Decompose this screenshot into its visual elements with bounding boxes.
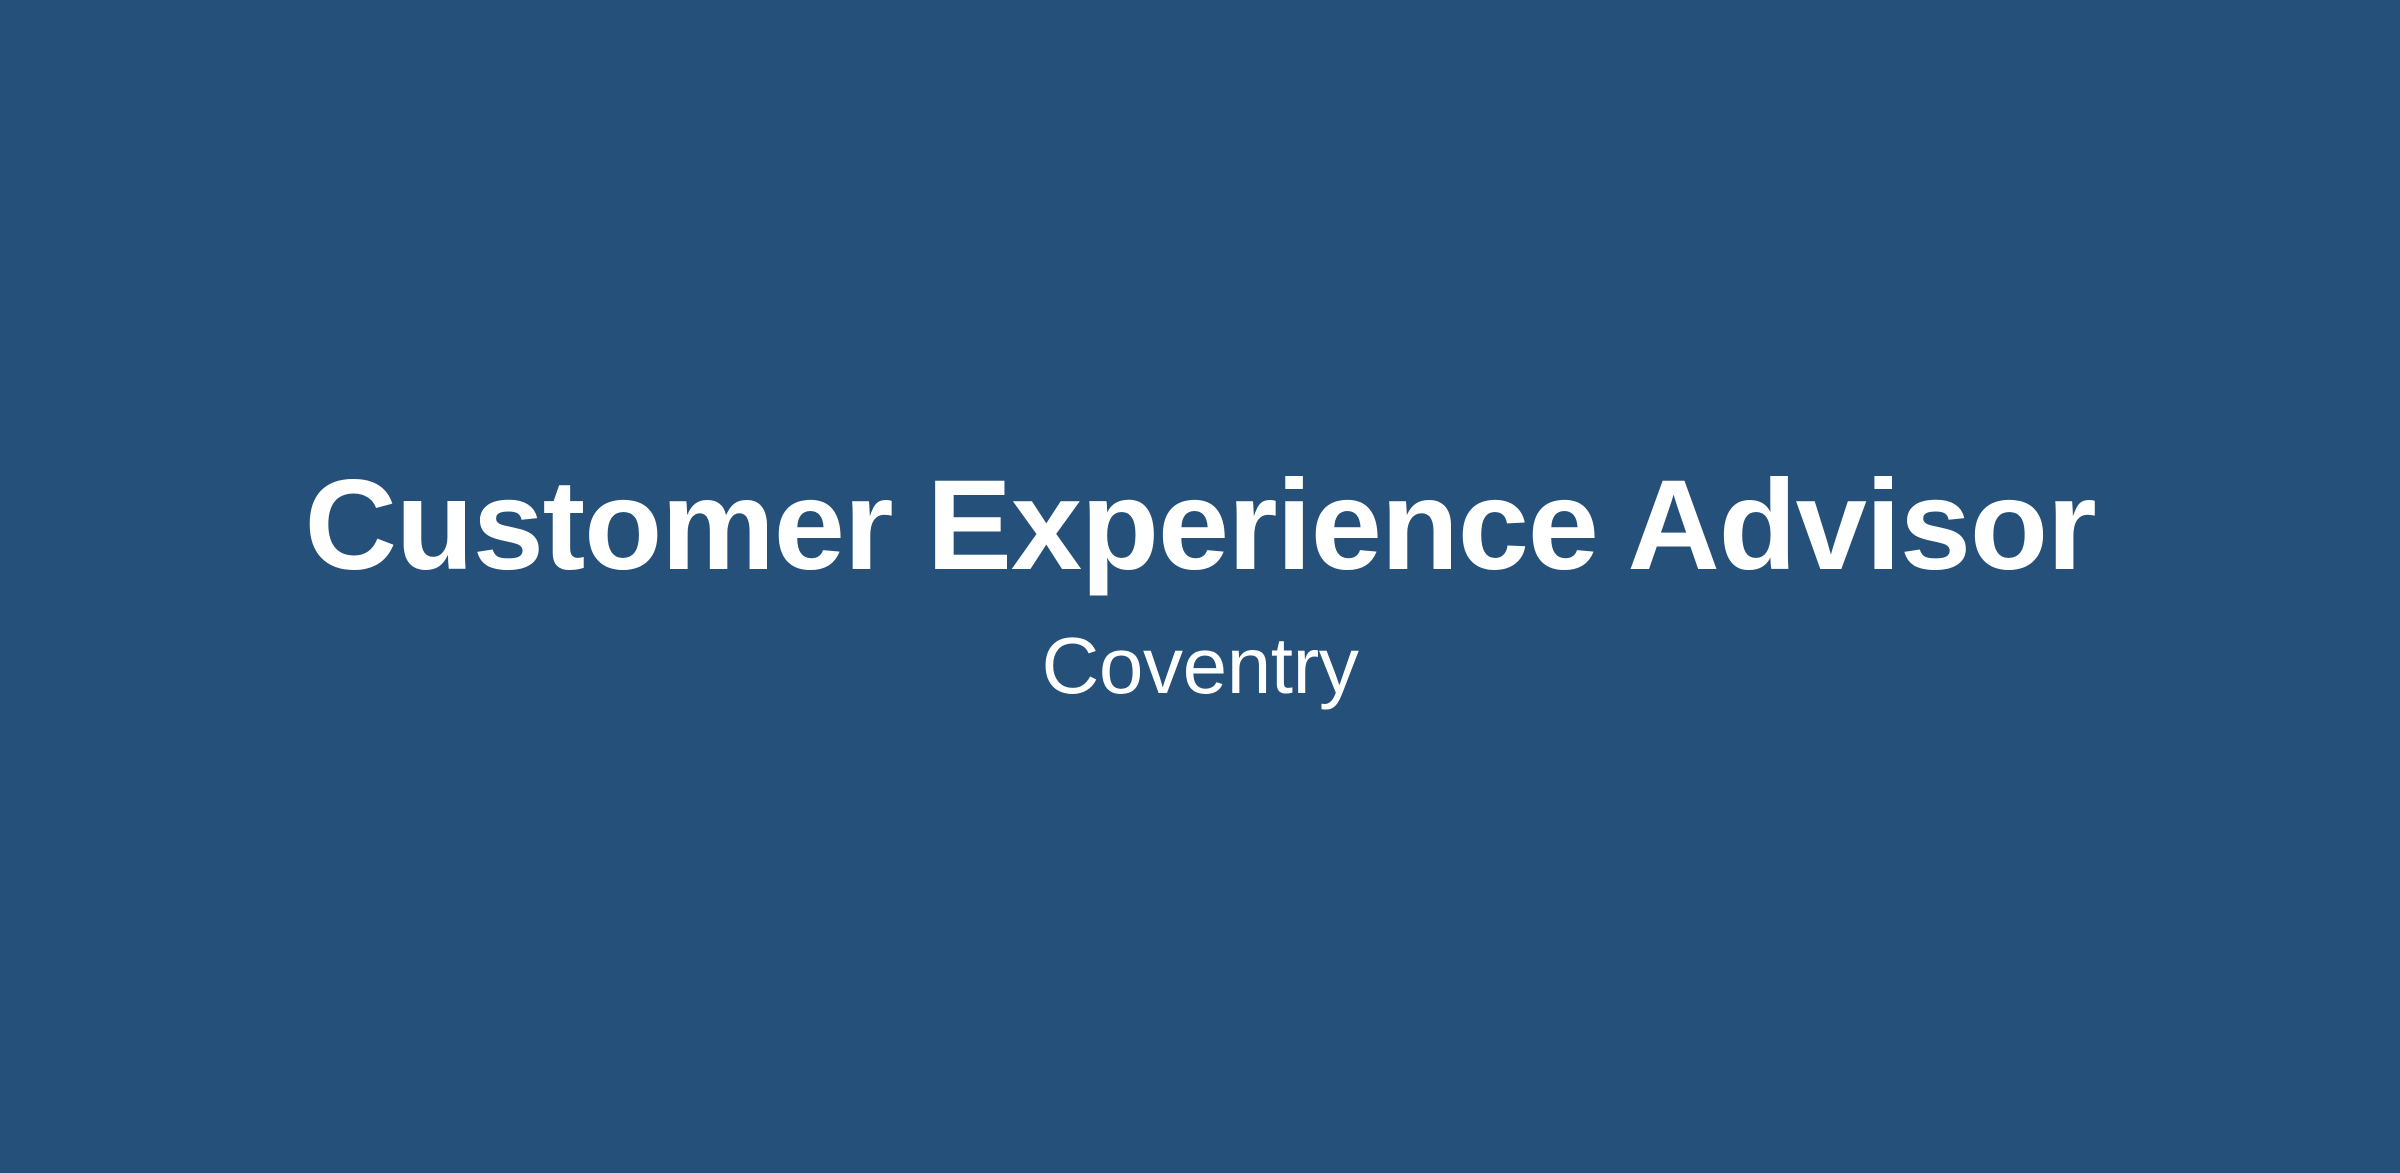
job-title: Customer Experience Advisor <box>304 462 2095 590</box>
job-posting-hero-card: Customer Experience Advisor Coventry <box>0 0 2400 1173</box>
job-location: Coventry <box>1042 626 1359 706</box>
hero-text-block: Customer Experience Advisor Coventry <box>0 0 2400 706</box>
